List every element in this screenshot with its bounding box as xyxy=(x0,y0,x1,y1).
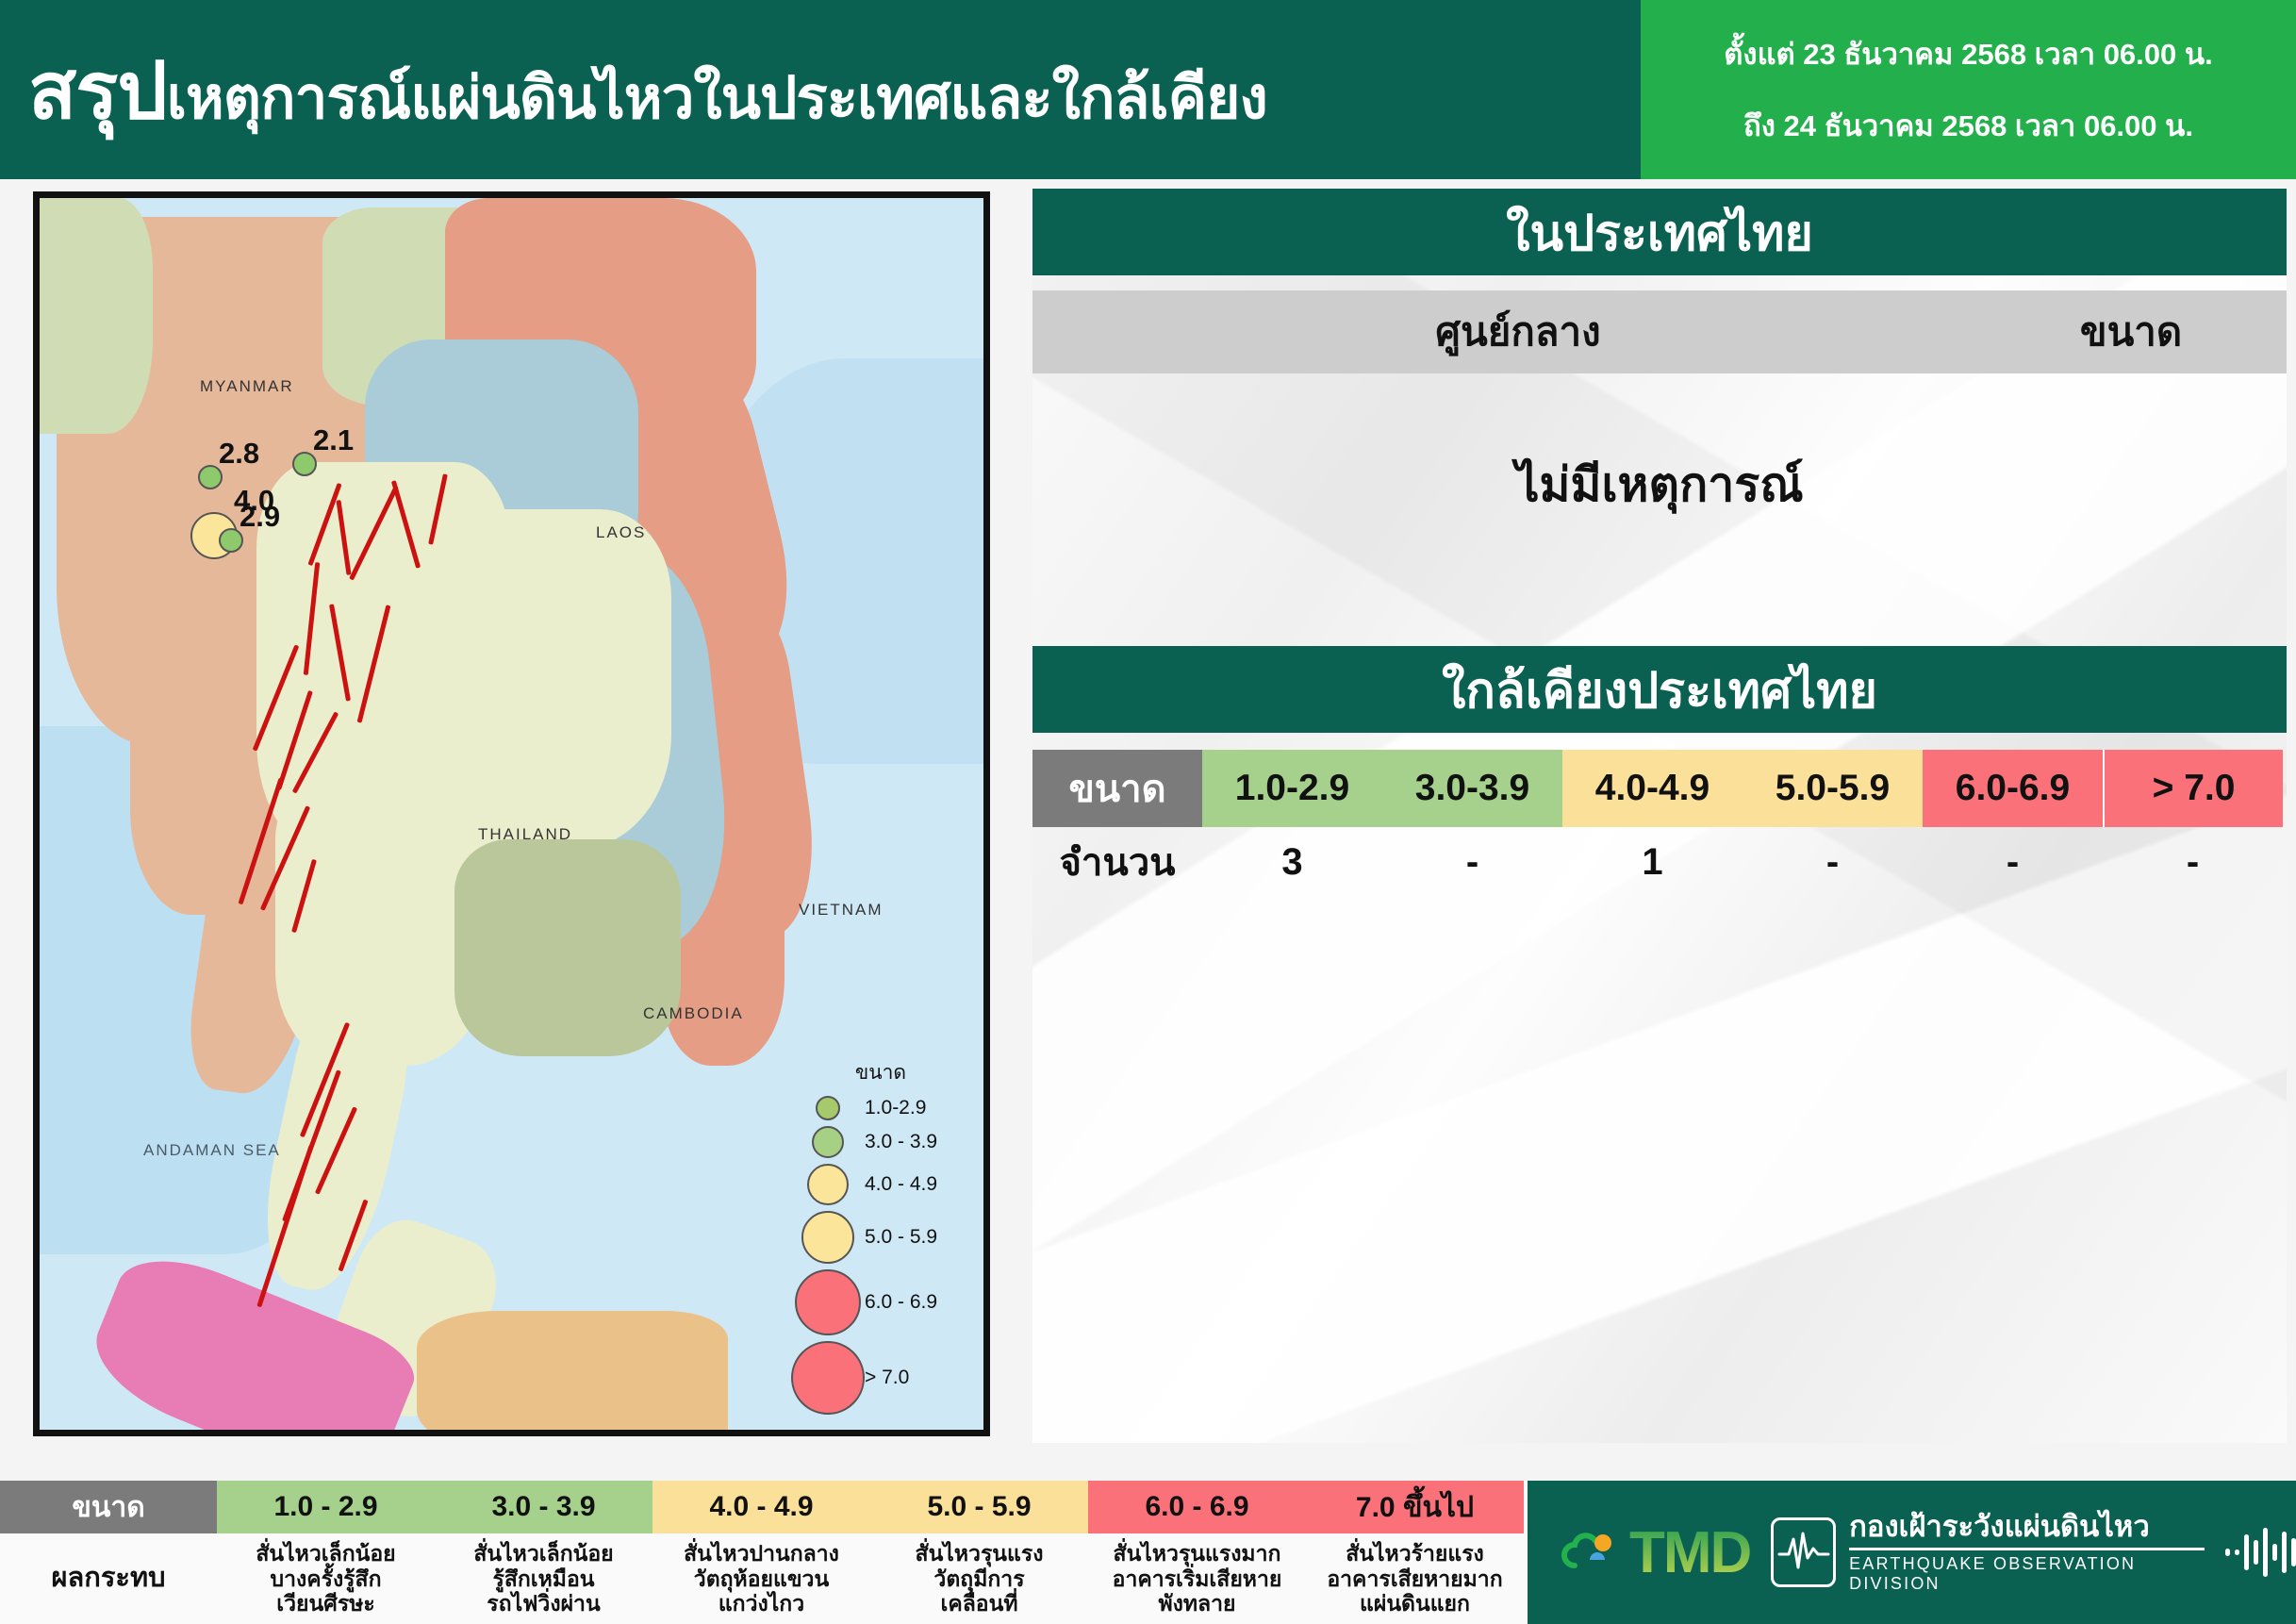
footer-effect-text: สั่นไหวเล็กน้อยรู้สึกเหมือนรถไฟวิ่งผ่าน xyxy=(435,1533,652,1624)
map-label-thailand: THAILAND xyxy=(478,825,572,844)
footer-effect-line: วัตถุมีการ xyxy=(933,1566,1024,1592)
magnitude-count-cell: - xyxy=(1382,827,1562,897)
footer-effect-line: รถไฟวิ่งผ่าน xyxy=(487,1591,600,1616)
tmd-wordmark: TMD xyxy=(1629,1519,1750,1586)
footer-effect-line: พังทลาย xyxy=(1158,1591,1235,1616)
magnitude-range-cell: 1.0-2.9 xyxy=(1202,750,1382,827)
infographic-root: สรุปเหตุการณ์แผ่นดินไหวในประเทศและใกล้เค… xyxy=(0,0,2296,1624)
footer-range-header: 3.0 - 3.9 xyxy=(435,1481,652,1533)
map-label-malaysia: MALAYSIA xyxy=(539,1433,634,1436)
footer-magnitude-label: ขนาด xyxy=(0,1481,217,1533)
division-name-thai: กองเฝ้าระวังแผ่นดินไหว xyxy=(1849,1511,2205,1543)
footer-legend-grid: ขนาด ผลกระทบ 1.0 - 2.9สั่นไหวเล็กน้อยบาง… xyxy=(0,1481,1528,1624)
in-thailand-empty-message: ไม่มีเหตุการณ์ xyxy=(1032,448,2287,522)
map-label-myanmar: MYANMAR xyxy=(200,377,294,396)
page-title-bold: สรุป xyxy=(28,46,167,135)
footer-legend-column: 7.0 ขึ้นไปสั่นไหวร้ายแรงอาคารเสียหายมากแ… xyxy=(1306,1481,1524,1624)
footer-legend-labels: ขนาด ผลกระทบ xyxy=(0,1481,217,1624)
section-near-thailand-title: ใกล้เคียงประเทศไทย xyxy=(1442,651,1877,729)
map-legend: ขนาด1.0-2.93.0 - 3.94.0 - 4.95.0 - 5.96.… xyxy=(791,1057,970,1420)
cloud-sun-icon xyxy=(1561,1522,1622,1583)
map-label-cambodia: CAMBODIA xyxy=(643,1004,744,1023)
footer-range-header: 1.0 - 2.9 xyxy=(217,1481,435,1533)
footer-range-header: 5.0 - 5.9 xyxy=(870,1481,1088,1533)
map-legend-item: 5.0 - 5.9 xyxy=(791,1211,970,1264)
divider xyxy=(1849,1548,2205,1550)
earthquake-magnitude-label: 2.9 xyxy=(240,500,280,534)
footer-legend-column: 3.0 - 3.9สั่นไหวเล็กน้อยรู้สึกเหมือนรถไฟ… xyxy=(435,1481,652,1624)
waveform-icon xyxy=(2225,1524,2296,1581)
map-legend-label: 6.0 - 6.9 xyxy=(865,1291,937,1314)
magnitude-range-cell: 6.0-6.9 xyxy=(1923,750,2103,827)
magnitude-count-cell: 3 xyxy=(1202,827,1382,897)
magnitude-row-label: ขนาด xyxy=(1032,750,1202,827)
footer-effect-line: เคลื่อนที่ xyxy=(940,1591,1017,1616)
footer-effect-line: สั่นไหวร้ายแรง xyxy=(1346,1541,1484,1566)
earthquake-magnitude-label: 2.8 xyxy=(219,437,259,471)
footer-effect-line: แกว่งไกว xyxy=(719,1591,804,1616)
division-text: กองเฝ้าระวังแผ่นดินไหว EARTHQUAKE OBSERV… xyxy=(1849,1511,2205,1593)
earthquake-division-logo: กองเฝ้าระวังแผ่นดินไหว EARTHQUAKE OBSERV… xyxy=(1771,1511,2205,1593)
map-legend-dot xyxy=(795,1269,861,1335)
magnitude-range-row: ขนาด 1.0-2.93.0-3.94.0-4.95.0-5.96.0-6.9… xyxy=(1032,750,2287,827)
date-from: ตั้งแต่ 23 ธันวาคม 2568 เวลา 06.00 น. xyxy=(1724,30,2212,77)
footer-effect-line: อาคารเสียหายมาก xyxy=(1327,1566,1502,1592)
map-legend-label: > 7.0 xyxy=(865,1367,909,1389)
header-date-bar: ตั้งแต่ 23 ธันวาคม 2568 เวลา 06.00 น. ถึ… xyxy=(1641,0,2296,179)
footer-effect-line: สั่นไหวเล็กน้อย xyxy=(256,1541,395,1566)
map-legend-item: 4.0 - 4.9 xyxy=(791,1164,970,1205)
map-legend-dot xyxy=(812,1126,844,1158)
footer-effect-line: อาคารเริ่มเสียหาย xyxy=(1113,1566,1282,1592)
near-thailand-table: ขนาด 1.0-2.93.0-3.94.0-4.95.0-5.96.0-6.9… xyxy=(1032,750,2287,897)
footer-effect-line: วัตถุห้อยแขวน xyxy=(694,1566,829,1592)
map-legend-dot xyxy=(816,1096,840,1120)
footer-range-header: 7.0 ขึ้นไป xyxy=(1306,1481,1524,1533)
footer-legend-column: 5.0 - 5.9สั่นไหวรุนแรงวัตถุมีการเคลื่อนท… xyxy=(870,1481,1088,1624)
footer-effect-line: เวียนศีรษะ xyxy=(276,1591,374,1616)
footer-legend-column: 4.0 - 4.9สั่นไหวปานกลางวัตถุห้อยแขวนแกว่… xyxy=(652,1481,870,1624)
magnitude-count-cell: - xyxy=(1743,827,1923,897)
map-legend-item: 1.0-2.9 xyxy=(791,1096,970,1120)
map-legend-dot xyxy=(807,1164,849,1205)
map-canvas: MYANMARLAOSTHAILANDVIETNAMCAMBODIAANDAMA… xyxy=(40,198,983,1430)
footer-logo-bar: TMD กองเฝ้าระวังแผ่นดินไหว EARTHQUAKE OB… xyxy=(1528,1481,2296,1624)
header-title-bar: สรุปเหตุการณ์แผ่นดินไหวในประเทศและใกล้เค… xyxy=(0,0,1641,179)
col-epicenter-label: ศูนย์กลาง xyxy=(1435,309,1600,354)
magnitude-count-cell: - xyxy=(2103,827,2283,897)
footer-effect-text: สั่นไหวรุนแรงวัตถุมีการเคลื่อนที่ xyxy=(870,1533,1088,1624)
footer-effect-line: แผ่นดินแยก xyxy=(1360,1591,1470,1616)
page-title: สรุปเหตุการณ์แผ่นดินไหวในประเทศและใกล้เค… xyxy=(28,26,1267,153)
map-legend-item: 6.0 - 6.9 xyxy=(791,1269,970,1335)
magnitude-range-cell: 3.0-3.9 xyxy=(1382,750,1562,827)
map-legend-label: 4.0 - 4.9 xyxy=(865,1173,937,1196)
footer-effect-line: สั่นไหวเล็กน้อย xyxy=(473,1541,613,1566)
map-legend-dot xyxy=(801,1211,854,1264)
seismograph-icon xyxy=(1771,1517,1836,1587)
col-magnitude-label: ขนาด xyxy=(2080,309,2182,354)
map-legend-label: 1.0-2.9 xyxy=(865,1097,926,1119)
map-legend-label: 5.0 - 5.9 xyxy=(865,1226,937,1249)
map-label-laos: LAOS xyxy=(596,523,646,542)
footer-range-header: 4.0 - 4.9 xyxy=(652,1481,870,1533)
section-near-thailand-header: ใกล้เคียงประเทศไทย xyxy=(1032,646,2287,733)
in-thailand-table-header: ศูนย์กลาง ขนาด xyxy=(1032,290,2287,373)
map-legend-dot xyxy=(791,1341,865,1415)
footer-effect-text: สั่นไหวเล็กน้อยบางครั้งรู้สึกเวียนศีรษะ xyxy=(217,1533,435,1624)
magnitude-range-cell: 5.0-5.9 xyxy=(1743,750,1923,827)
map-label-andaman-sea: ANDAMAN SEA xyxy=(143,1141,281,1160)
magnitude-count-cell: - xyxy=(1923,827,2103,897)
section-in-thailand-header: ในประเทศไทย xyxy=(1032,189,2287,275)
magnitude-count-cell: 1 xyxy=(1562,827,1743,897)
map-legend-item: > 7.0 xyxy=(791,1341,970,1415)
footer-effect-line: บางครั้งรู้สึก xyxy=(270,1566,381,1592)
summary-panel: ในประเทศไทย ศูนย์กลาง ขนาด ไม่มีเหตุการณ… xyxy=(1032,189,2287,1443)
division-name-english: EARTHQUAKE OBSERVATION DIVISION xyxy=(1849,1554,2205,1594)
footer-effect-line: สั่นไหวรุนแรงมาก xyxy=(1114,1541,1281,1566)
footer-effect-label: ผลกระทบ xyxy=(0,1533,217,1624)
page-title-rest: เหตุการณ์แผ่นดินไหวในประเทศและใกล้เคียง xyxy=(167,66,1267,131)
page-header: สรุปเหตุการณ์แผ่นดินไหวในประเทศและใกล้เค… xyxy=(0,0,2296,179)
earthquake-magnitude-label: 2.1 xyxy=(313,423,354,457)
footer-legend: ขนาด ผลกระทบ 1.0 - 2.9สั่นไหวเล็กน้อยบาง… xyxy=(0,1481,2296,1624)
section-in-thailand-title: ในประเทศไทย xyxy=(1506,193,1813,272)
footer-effect-text: สั่นไหวปานกลางวัตถุห้อยแขวนแกว่งไกว xyxy=(652,1533,870,1624)
footer-effect-line: รู้สึกเหมือน xyxy=(492,1566,594,1592)
count-row-label: จำนวน xyxy=(1032,827,1202,897)
magnitude-count-row: จำนวน 3-1--- xyxy=(1032,827,2287,897)
footer-effect-text: สั่นไหวรุนแรงมากอาคารเริ่มเสียหายพังทลาย xyxy=(1088,1533,1306,1624)
map-legend-label: 3.0 - 3.9 xyxy=(865,1131,937,1153)
date-to: ถึง 24 ธันวาคม 2568 เวลา 06.00 น. xyxy=(1743,102,2193,149)
footer-effect-text: สั่นไหวร้ายแรงอาคารเสียหายมากแผ่นดินแยก xyxy=(1306,1533,1524,1624)
map-label-vietnam: VIETNAM xyxy=(799,901,884,920)
footer-effect-line: สั่นไหวปานกลาง xyxy=(684,1541,839,1566)
map-legend-title: ขนาด xyxy=(791,1057,970,1088)
footer-range-header: 6.0 - 6.9 xyxy=(1088,1481,1306,1533)
earthquake-map[interactable]: MYANMARLAOSTHAILANDVIETNAMCAMBODIAANDAMA… xyxy=(33,191,990,1436)
magnitude-range-cell: > 7.0 xyxy=(2103,750,2283,827)
footer-effect-line: สั่นไหวรุนแรง xyxy=(916,1541,1044,1566)
magnitude-range-cell: 4.0-4.9 xyxy=(1562,750,1743,827)
footer-legend-column: 1.0 - 2.9สั่นไหวเล็กน้อยบางครั้งรู้สึกเว… xyxy=(217,1481,435,1624)
tmd-logo: TMD xyxy=(1561,1519,1750,1586)
footer-legend-column: 6.0 - 6.9สั่นไหวรุนแรงมากอาคารเริ่มเสียห… xyxy=(1088,1481,1306,1624)
map-legend-item: 3.0 - 3.9 xyxy=(791,1126,970,1158)
